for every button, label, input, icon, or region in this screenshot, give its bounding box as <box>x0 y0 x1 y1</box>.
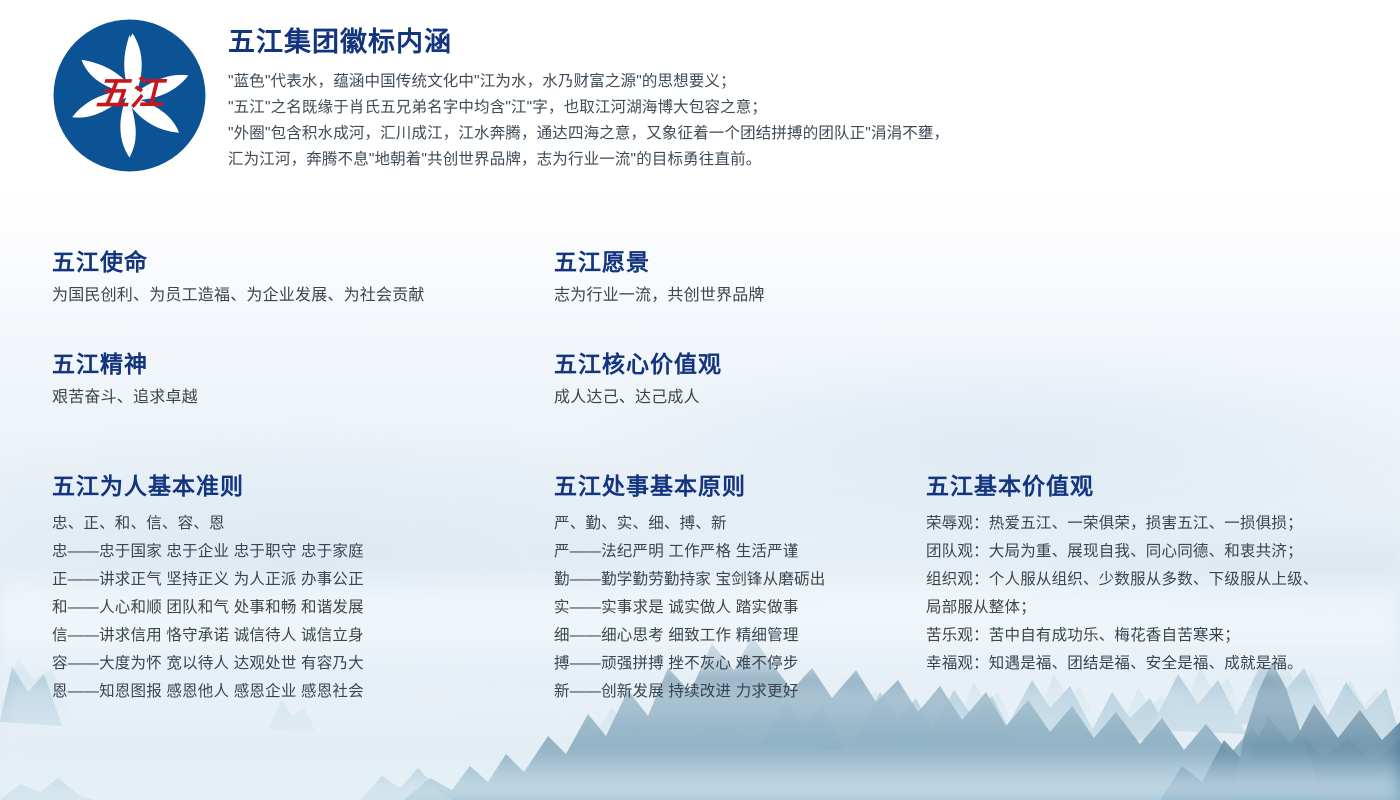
vision-block: 五江愿景 志为行业一流，共创世界品牌 <box>554 248 765 309</box>
logo-center-text: 五江 <box>95 76 167 113</box>
basic-values-line: 组织观：个人服从组织、少数服从多数、下级服从上级、 <box>926 566 1376 594</box>
person-principles-line: 恩——知恩图报 感恩他人 感恩企业 感恩社会 <box>52 678 522 706</box>
person-principles-line: 信——讲求信用 恪守承诺 诚信待人 诚信立身 <box>52 622 522 650</box>
conduct-principles-line: 勤——勤学勤劳勤持家 宝剑锋从磨砺出 <box>554 566 914 594</box>
person-principles-title: 五江为人基本准则 <box>52 472 522 501</box>
emblem-line-3: "外圈"包含积水成河，汇川成江，江水奔腾，通达四海之意，又象征着一个团结拼搏的团… <box>228 121 1228 147</box>
basic-values-title: 五江基本价值观 <box>926 472 1376 501</box>
conduct-principles-line: 严、勤、实、细、搏、新 <box>554 510 914 538</box>
basic-values-line: 幸福观：知遇是福、团结是福、安全是福、成就是福。 <box>926 650 1376 678</box>
core-value-body: 成人达己、达己成人 <box>554 385 722 411</box>
conduct-principles-line: 搏——顽强拼搏 挫不灰心 难不停步 <box>554 650 914 678</box>
emblem-header-section: 五江 五江集团徽标内涵 "蓝色"代表水，蕴涵中国传统文化中"江为水，水乃财富之源… <box>0 0 1400 200</box>
mission-title: 五江使命 <box>52 248 425 277</box>
emblem-title: 五江集团徽标内涵 <box>228 26 1228 58</box>
basic-values-block: 五江基本价值观 荣辱观：热爱五江、一荣俱荣，损害五江、一损俱损； 团队观：大局为… <box>926 472 1376 678</box>
conduct-principles-line: 细——细心思考 细致工作 精细管理 <box>554 622 914 650</box>
person-principles-line: 正——讲求正气 坚持正义 为人正派 办事公正 <box>52 566 522 594</box>
person-principles-line: 容——大度为怀 宽以待人 达观处世 有容乃大 <box>52 650 522 678</box>
page-content: 五江 五江集团徽标内涵 "蓝色"代表水，蕴涵中国传统文化中"江为水，水乃财富之源… <box>0 0 1400 800</box>
spirit-block: 五江精神 艰苦奋斗、追求卓越 <box>52 350 198 411</box>
conduct-principles-line: 新——创新发展 持续改进 力求更好 <box>554 678 914 706</box>
mission-block: 五江使命 为国民创利、为员工造福、为企业发展、为社会贡献 <box>52 248 425 309</box>
vision-title: 五江愿景 <box>554 248 765 277</box>
wujiang-logo: 五江 <box>52 18 207 173</box>
spirit-body: 艰苦奋斗、追求卓越 <box>52 385 198 411</box>
person-principles-block: 五江为人基本准则 忠、正、和、信、容、恩 忠——忠于国家 忠于企业 忠于职守 忠… <box>52 472 522 706</box>
spirit-title: 五江精神 <box>52 350 198 379</box>
conduct-principles-line: 严——法纪严明 工作严格 生活严谨 <box>554 538 914 566</box>
emblem-line-1: "蓝色"代表水，蕴涵中国传统文化中"江为水，水乃财富之源"的思想要义； <box>228 69 1228 95</box>
core-value-title: 五江核心价值观 <box>554 350 722 379</box>
emblem-line-2: "五江"之名既缘于肖氏五兄弟名字中均含"江"字，也取江河湖海博大包容之意； <box>228 95 1228 121</box>
conduct-principles-title: 五江处事基本原则 <box>554 472 914 501</box>
emblem-text-block: 五江集团徽标内涵 "蓝色"代表水，蕴涵中国传统文化中"江为水，水乃财富之源"的思… <box>228 26 1228 173</box>
core-value-block: 五江核心价值观 成人达己、达己成人 <box>554 350 722 411</box>
person-principles-line: 忠、正、和、信、容、恩 <box>52 510 522 538</box>
person-principles-line: 和——人心和顺 团队和气 处事和畅 和谐发展 <box>52 594 522 622</box>
conduct-principles-block: 五江处事基本原则 严、勤、实、细、搏、新 严——法纪严明 工作严格 生活严谨 勤… <box>554 472 914 706</box>
basic-values-line: 团队观：大局为重、展现自我、同心同德、和衷共济； <box>926 538 1376 566</box>
vision-body: 志为行业一流，共创世界品牌 <box>554 283 765 309</box>
mission-body: 为国民创利、为员工造福、为企业发展、为社会贡献 <box>52 283 425 309</box>
basic-values-line: 苦乐观：苦中自有成功乐、梅花香自苦寒来； <box>926 622 1376 650</box>
conduct-principles-line: 实——实事求是 诚实做人 踏实做事 <box>554 594 914 622</box>
basic-values-line: 荣辱观：热爱五江、一荣俱荣，损害五江、一损俱损； <box>926 510 1376 538</box>
basic-values-line: 局部服从整体； <box>926 594 1376 622</box>
emblem-line-4: 汇为江河，奔腾不息"地朝着"共创世界品牌，志为行业一流"的目标勇往直前。 <box>228 147 1228 173</box>
person-principles-line: 忠——忠于国家 忠于企业 忠于职守 忠于家庭 <box>52 538 522 566</box>
